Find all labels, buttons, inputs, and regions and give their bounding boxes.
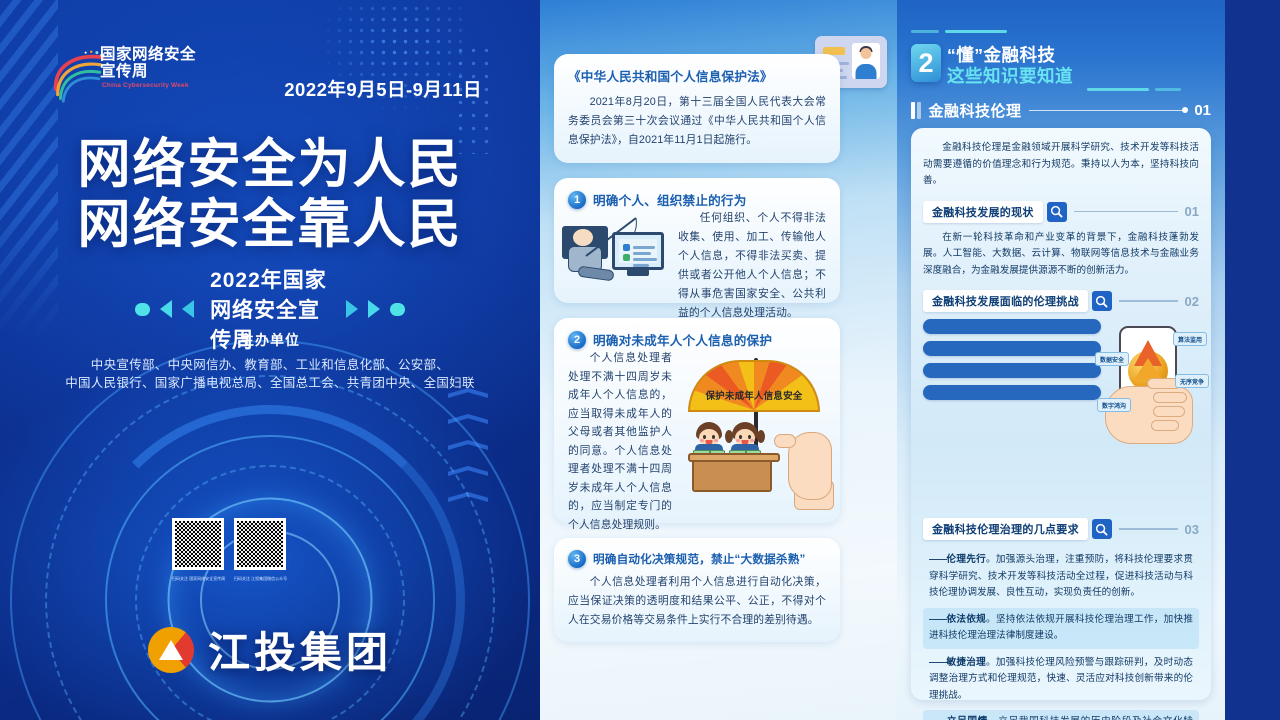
requirement-term: 立足国情 [946,716,988,720]
subsection-3-number: 03 [1185,522,1199,537]
item-card-2: 2 明确对未成年人个人信息的保护 保护未成年人信息安全 [554,318,840,523]
host-label: 主办单位 [0,330,540,350]
requirement-item: ——依法依规。坚持依法依规开展科技伦理治理工作，加快推进科技伦理治理法律制度建设… [923,608,1199,649]
logo-name-english: China Cybersecurity Week [102,82,189,89]
dot-matrix-decoration [312,0,462,142]
ribbon-chevron-left-inner [182,300,194,318]
ribbon-chevron-left-outer [160,300,172,318]
umbrella-children-illustration: 保护未成年人信息安全 [676,346,836,506]
requirement-dash: —— [929,657,946,668]
ribbon-chevron-right-inner [346,300,358,318]
qr-code-group: 扫码关注 国家网络安全宣传周 扫码关注 江投集团微信公众号 [172,518,286,570]
jiangtou-group-logo-icon [148,627,194,673]
subsection-1-number: 01 [1185,204,1199,219]
redacted-bar [923,385,1101,400]
host-organizations-line-1: 中央宣传部、中央网信办、教育部、工业和信息化部、公安部、 [0,354,540,373]
subsection-2-number: 02 [1185,294,1199,309]
section-badge-number: 2 [911,44,941,82]
subsection-1-body: 在新一轮科技革命和产业变革的背景下，金融科技蓬勃发展。人工智能、大数据、云计算、… [923,230,1199,280]
item-3-number: 3 [568,550,586,568]
fintech-intro-text: 金融科技伦理是金融领域开展科学研究、技术开发等科技活动需要遵循的价值理念和行为规… [923,140,1199,190]
section-header: 金融科技伦理 01 [911,100,1211,121]
redacted-bar [923,341,1101,356]
fintech-ethics-panel: 2 “懂”金融科技 这些知识要知道 金融科技伦理 01 金融科技伦理是金融领域开… [897,0,1225,720]
magnifier-icon[interactable] [1092,291,1112,311]
subsection-header-3[interactable]: 金融科技伦理治理的几点要求 03 [923,518,1199,540]
host-organizations-line-2: 中国人民银行、国家广播电视总局、全国总工会、共青团中央、全国妇联 [0,372,540,391]
redacted-bar [923,319,1101,334]
item-2-body: 个人信息处理者处理不满十四周岁未成年人个人信息的，应当取得未成年人的父母或者其他… [568,349,672,534]
law-title: 《中华人民共和国个人信息保护法》 [568,66,826,85]
section-marker-icon [911,102,921,119]
requirement-dash: —— [929,716,946,720]
item-3-title: 明确自动化决策规范，禁止“大数据杀熟” [593,551,806,567]
monitor-light-icon [612,232,664,270]
personal-information-protection-law-panel: 《中华人民共和国个人信息保护法》 2021年8月20日，第十三届全国人民代表大会… [540,0,897,720]
qr-code-right[interactable] [234,518,286,570]
hand-holding-phone-illustration: 算法监用 数据安全 无序竞争 数字鸿沟 [1097,326,1205,451]
event-logo: 国家网络安全 宣传周 China Cybersecurity Week [48,42,184,108]
header-accent-line-top-short [911,30,939,33]
item-card-1: 1 明确个人、组织禁止的行为 [554,178,840,303]
event-date-range: 2022年9月5日-9月11日 [284,76,482,102]
section-title: 金融科技伦理 [929,100,1022,121]
subsection-header-1[interactable]: 金融科技发展的现状 01 [923,201,1199,223]
umbrella-canopy-icon: 保护未成年人信息安全 [688,360,820,412]
item-1-number: 1 [568,191,586,209]
section-number: 01 [1194,102,1211,119]
subsection-3-label: 金融科技伦理治理的几点要求 [923,518,1088,540]
magnifier-icon[interactable] [1047,202,1067,222]
header-accent-line-top [945,30,1007,33]
sponsor-brand-name: 江投集团 [208,619,392,680]
redacted-bar [923,363,1101,378]
item-3-header: 3 明确自动化决策规范，禁止“大数据杀熟” [568,550,826,568]
header-accent-line-bottom-short [1155,88,1181,91]
qr-code-left[interactable] [172,518,224,570]
subsection-1-rule [1074,211,1178,212]
header-accent-line-bottom [1087,88,1149,91]
sponsor-brand: 江投集团 [148,619,392,680]
ribbon-bar-right [390,303,405,316]
id-card-portrait [852,43,880,79]
phone-tag-2: 数据安全 [1095,352,1129,366]
item-3-body: 个人信息处理者利用个人信息进行自动化决策，应当保证决策的透明度和结果公平、公正，… [568,573,826,630]
requirement-item: ——伦理先行。加强源头治理，注重预防，将科技伦理要求贯穿科学研究、技术开发等科技… [923,548,1199,606]
requirement-item: ——立足国情。立足我国科技发展的历史阶段及社会文化特点，遵循科技创新规律，建立健… [923,710,1199,720]
law-body: 2021年8月20日，第十三届全国人民代表大会常务委员会第三十次会议通过《中华人… [568,93,826,150]
item-2-number: 2 [568,331,586,349]
item-1-header: 1 明确个人、组织禁止的行为 [568,190,826,209]
hand-holding-umbrella-icon [774,408,834,500]
phone-tag-3: 无序竞争 [1175,374,1209,388]
umbrella-slogan: 保护未成年人信息安全 [690,388,818,402]
poster-collage: 国家网络安全 宣传周 China Cybersecurity Week 2022… [0,0,1280,720]
qr-code-left-caption: 扫码关注 国家网络安全宣传周 [172,576,224,582]
requirement-term: 依法依规 [946,614,986,625]
qr-code-right-caption: 扫码关注 江投集团微信公众号 [234,576,286,582]
fintech-ethics-content-card: 金融科技伦理是金融领域开展科学研究、技术开发等科技活动需要遵循的价值理念和行为规… [911,128,1211,700]
ribbon-chevron-right-outer [368,300,380,318]
item-card-3: 3 明确自动化决策规范，禁止“大数据杀熟” 个人信息处理者利用个人信息进行自动化… [554,538,840,642]
chevron-arrows-decoration [448,388,494,518]
subsection-3-rule [1119,528,1178,529]
subsection-header-2[interactable]: 金融科技发展面临的伦理挑战 02 [923,290,1199,312]
requirement-term: 伦理先行 [946,554,986,565]
subsection-2-label: 金融科技发展面临的伦理挑战 [923,290,1088,312]
cybersecurity-week-poster: 国家网络安全 宣传周 China Cybersecurity Week 2022… [0,0,540,720]
panel3-heading-line-2: 这些知识要知道 [947,63,1073,88]
school-desk-icon [692,458,772,492]
phishing-monitor-illustration [562,212,666,296]
magnifier-icon[interactable] [1092,519,1112,539]
item-1-body: 任何组织、个人不得非法收集、使用、加工、传输他人个人信息，不得非法买卖、提供或者… [678,209,826,323]
phone-tag-1: 算法监用 [1173,332,1207,346]
section-rule [1029,110,1188,111]
requirement-item: ——敏捷治理。加强科技伦理风险预警与跟踪研判，及时动态调整治理方式和伦理规范，快… [923,651,1199,709]
requirement-term: 敏捷治理 [946,657,986,668]
logo-name: 国家网络安全 宣传周 [100,46,196,80]
law-intro-card: 《中华人民共和国个人信息保护法》 2021年8月20日，第十三届全国人民代表大会… [554,54,840,163]
redacted-bar-list [923,319,1101,400]
headline-line-2: 网络安全靠人民 [0,195,540,255]
ribbon-bar-left [135,303,150,316]
subsection-2-rule [1119,300,1178,301]
headline-line-1: 网络安全为人民 [0,135,540,195]
requirement-dash: —— [929,614,946,625]
requirements-list: ——伦理先行。加强源头治理，注重预防，将科技伦理要求贯穿科学研究、技术开发等科技… [923,548,1199,720]
phone-tag-4: 数字鸿沟 [1097,398,1131,412]
requirement-dash: —— [929,554,946,565]
poster-headline: 网络安全为人民 网络安全靠人民 [0,135,540,255]
item-1-title: 明确个人、组织禁止的行为 [593,190,747,209]
subsection-1-label: 金融科技发展的现状 [923,201,1043,223]
